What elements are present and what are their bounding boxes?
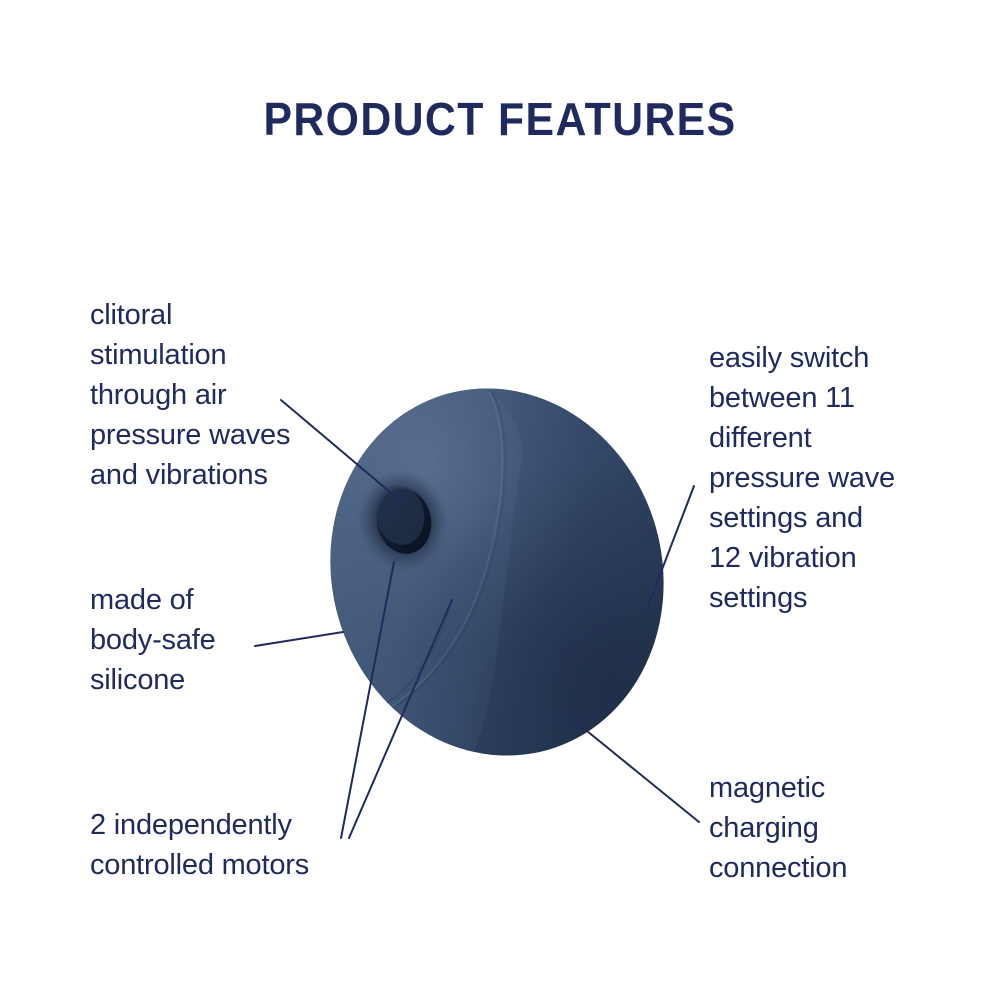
callout-clitoral-stimulation: clitoral stimulation through air pressur… [90,295,410,495]
callout-body-safe-silicone: made of body-safe silicone [90,580,350,700]
callout-pressure-and-vibration-settings: easily switch between 11 different press… [709,338,989,618]
callout-independent-motors: 2 independently controlled motors [90,805,420,885]
product-features-infographic: PRODUCT FEATURES [0,0,1000,1000]
callout-magnetic-charging: magnetic charging connection [709,768,959,888]
